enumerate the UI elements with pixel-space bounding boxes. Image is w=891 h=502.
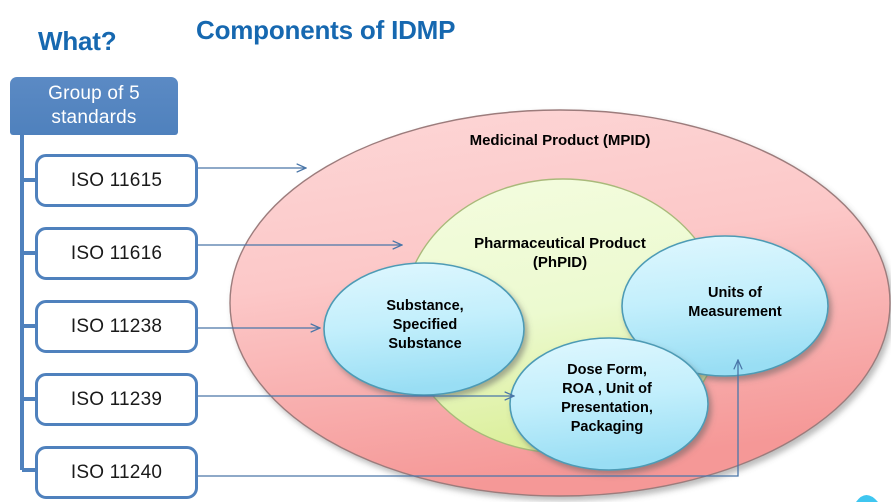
slide-canvas: What? Components of IDMP xyxy=(0,0,891,502)
iso-box-11616[interactable]: ISO 11616 xyxy=(35,227,198,280)
group-of-standards-label: Group of 5 standards xyxy=(48,83,140,128)
ellipse-substance xyxy=(324,263,524,395)
iso-box-11239-label: ISO 11239 xyxy=(71,389,162,411)
iso-box-11616-label: ISO 11616 xyxy=(71,243,162,265)
group-of-standards-box[interactable]: Group of 5 standards xyxy=(10,77,178,135)
iso-box-11240-label: ISO 11240 xyxy=(71,462,162,484)
iso-box-11615-label: ISO 11615 xyxy=(71,170,162,192)
iso-box-11239[interactable]: ISO 11239 xyxy=(35,373,198,426)
iso-box-11240[interactable]: ISO 11240 xyxy=(35,446,198,499)
iso-box-11615[interactable]: ISO 11615 xyxy=(35,154,198,207)
iso-box-11238[interactable]: ISO 11238 xyxy=(35,300,198,353)
corner-decoration-icon xyxy=(856,495,878,502)
iso-box-11238-label: ISO 11238 xyxy=(71,316,162,338)
ellipse-dose-form xyxy=(510,338,708,470)
